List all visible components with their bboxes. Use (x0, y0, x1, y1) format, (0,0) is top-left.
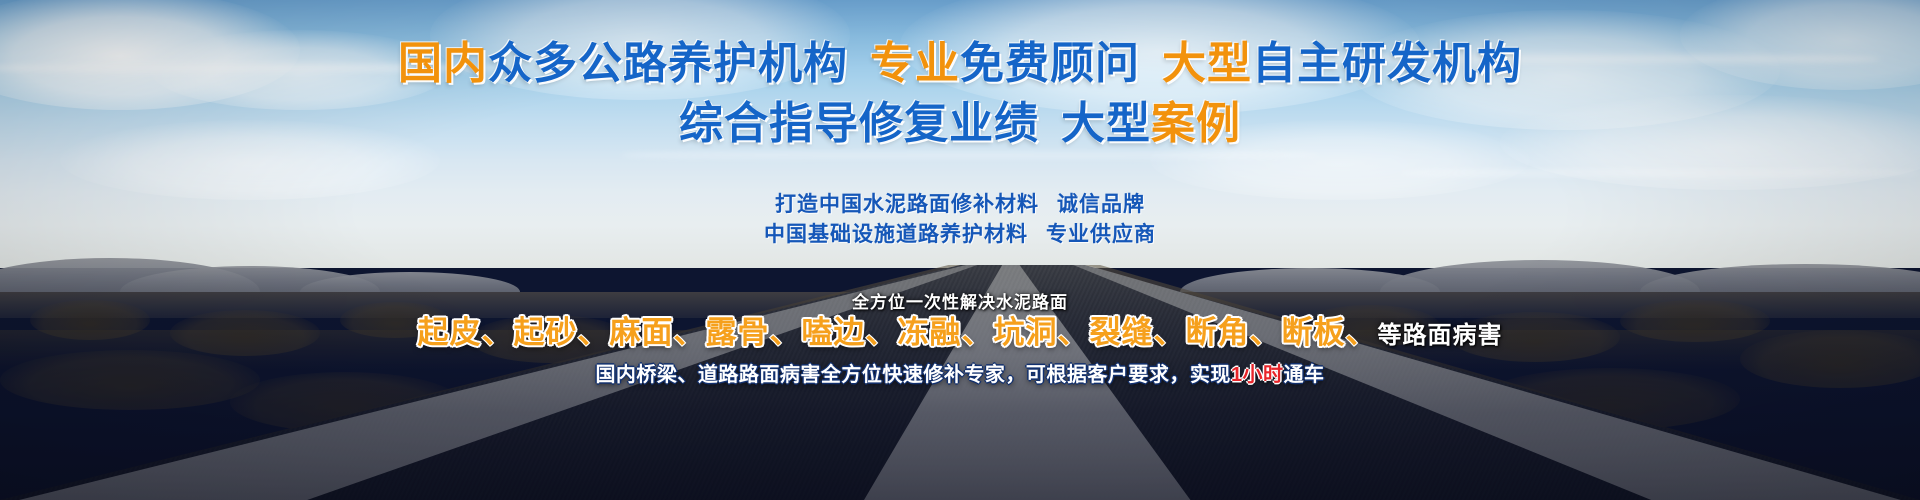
subtitle-block: 打造中国水泥路面修补材料诚信品牌 中国基础设施道路养护材料专业供应商 (764, 190, 1156, 251)
guarantee-text-b: 通车 (1284, 364, 1325, 386)
headline2-seg-0: 综合指导修复业绩 (679, 99, 1039, 148)
disease-list: 起皮、起砂、麻面、露骨、嗑边、冻融、坑洞、裂缝、断角、断板、 (418, 315, 1378, 350)
disease-separator: 、 (1346, 315, 1378, 350)
lower-text-block: 全方位一次性解决水泥路面 起皮、起砂、麻面、露骨、嗑边、冻融、坑洞、裂缝、断角、… (0, 288, 1920, 387)
disease-item: 坑洞 (994, 315, 1058, 350)
headline1-seg-4: 大型 (1162, 39, 1252, 88)
guarantee-line: 国内桥梁、道路路面病害全方位快速修补专家，可根据客户要求，实现1小时通车 (0, 358, 1920, 387)
subtitle-line-1: 打造中国水泥路面修补材料诚信品牌 (764, 190, 1156, 220)
disease-item: 冻融 (898, 315, 962, 350)
subtitle-line-2-part-b: 专业供应商 (1046, 223, 1156, 246)
disease-separator: 、 (1250, 315, 1282, 350)
disease-separator: 、 (1058, 315, 1090, 350)
headline-line-1: 国内众多公路养护机构专业免费顾问大型自主研发机构 (398, 42, 1522, 86)
disease-item: 断板 (1282, 315, 1346, 350)
headline1-seg-3: 免费顾问 (960, 39, 1140, 88)
disease-separator: 、 (866, 315, 898, 350)
disease-item: 起皮 (418, 315, 482, 350)
subtitle-line-1-part-a: 打造中国水泥路面修补材料 (775, 193, 1039, 216)
disease-item: 裂缝 (1090, 315, 1154, 350)
disease-separator: 、 (482, 315, 514, 350)
disease-item: 嗑边 (802, 315, 866, 350)
guarantee-highlight: 1小时 (1231, 364, 1284, 386)
disease-list-line: 起皮、起砂、麻面、露骨、嗑边、冻融、坑洞、裂缝、断角、断板、等路面病害 (0, 316, 1920, 351)
promo-banner: 国内众多公路养护机构专业免费顾问大型自主研发机构 综合指导修复业绩大型案例 打造… (0, 0, 1920, 500)
subtitle-line-2-part-a: 中国基础设施道路养护材料 (764, 223, 1028, 246)
headline1-seg-5: 自主研发机构 (1252, 39, 1522, 88)
headline2-seg-2: 案例 (1151, 99, 1241, 148)
headline1-seg-0: 国内 (398, 39, 488, 88)
headline1-seg-2: 专业 (870, 39, 960, 88)
disease-separator: 、 (770, 315, 802, 350)
disease-item: 断角 (1186, 315, 1250, 350)
subtitle-line-2: 中国基础设施道路养护材料专业供应商 (764, 220, 1156, 250)
lower-small-line: 全方位一次性解决水泥路面 (0, 288, 1920, 313)
disease-separator: 、 (578, 315, 610, 350)
guarantee-text-a: 国内桥梁、道路路面病害全方位快速修补专家，可根据客户要求，实现 (595, 364, 1231, 386)
headline2-seg-1: 大型 (1061, 99, 1151, 148)
disease-separator: 、 (962, 315, 994, 350)
disease-item: 起砂 (514, 315, 578, 350)
headline1-seg-1: 众多公路养护机构 (488, 39, 848, 88)
disease-item: 露骨 (706, 315, 770, 350)
disease-separator: 、 (674, 315, 706, 350)
disease-separator: 、 (1154, 315, 1186, 350)
headline-line-2: 综合指导修复业绩大型案例 (679, 102, 1241, 146)
banner-content: 国内众多公路养护机构专业免费顾问大型自主研发机构 综合指导修复业绩大型案例 打造… (0, 0, 1920, 500)
disease-list-tail: 等路面病害 (1378, 322, 1503, 349)
disease-item: 麻面 (610, 315, 674, 350)
subtitle-line-1-part-b: 诚信品牌 (1057, 193, 1145, 216)
